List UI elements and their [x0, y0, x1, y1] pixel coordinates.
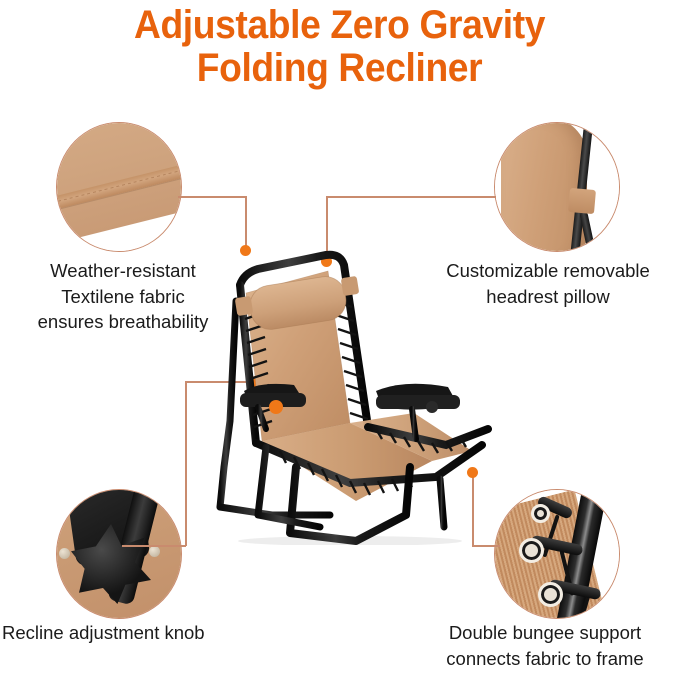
- bungee-detail-image: [495, 490, 619, 618]
- ground-shadow: [238, 536, 462, 545]
- leader-line-tl-horizontal: [178, 196, 246, 198]
- leader-line-br-horizontal: [472, 545, 500, 547]
- bolt-icon: [59, 548, 70, 559]
- callout-circle-headrest-pillow: [494, 122, 620, 252]
- headrest-pillow-detail-image: [495, 123, 619, 251]
- pillow-strap-right: [341, 276, 360, 296]
- caption-recline-knob: Recline adjustment knob: [2, 620, 274, 646]
- leader-line-bl-horizontal-bottom: [122, 545, 186, 547]
- recline-knob-detail-image: [57, 490, 181, 618]
- leader-line-bl-vertical: [185, 381, 187, 546]
- leader-line-tr-horizontal: [326, 196, 496, 198]
- armrest-right-post: [412, 409, 416, 439]
- page-title: Adjustable Zero Gravity Folding Recliner: [24, 4, 655, 90]
- bolt-icon: [149, 546, 160, 557]
- callout-circle-recline-knob: [56, 489, 182, 619]
- grommet-icon: [531, 504, 550, 523]
- recliner-chair-svg: [200, 215, 500, 545]
- rear-frame-left-rail: [220, 301, 236, 507]
- pillow-strap-left: [235, 296, 254, 316]
- recline-knob-left: [269, 400, 283, 414]
- pillow-strap: [568, 188, 596, 214]
- callout-circle-double-bungee-support: [494, 489, 620, 619]
- caption-double-bungee-support: Double bungee support connects fabric to…: [412, 620, 678, 671]
- infographic-canvas: Adjustable Zero Gravity Folding Recliner…: [0, 0, 679, 677]
- rear-foot-rail: [220, 507, 330, 515]
- fabric-hem-detail-image: [57, 123, 181, 251]
- callout-circle-weather-resistant-fabric: [56, 122, 182, 252]
- grommet-icon: [519, 538, 544, 563]
- product-illustration-recliner-chair: [200, 215, 500, 545]
- footrest-leg: [440, 479, 444, 527]
- recline-knob-right: [426, 401, 438, 413]
- grommet-icon: [538, 582, 563, 607]
